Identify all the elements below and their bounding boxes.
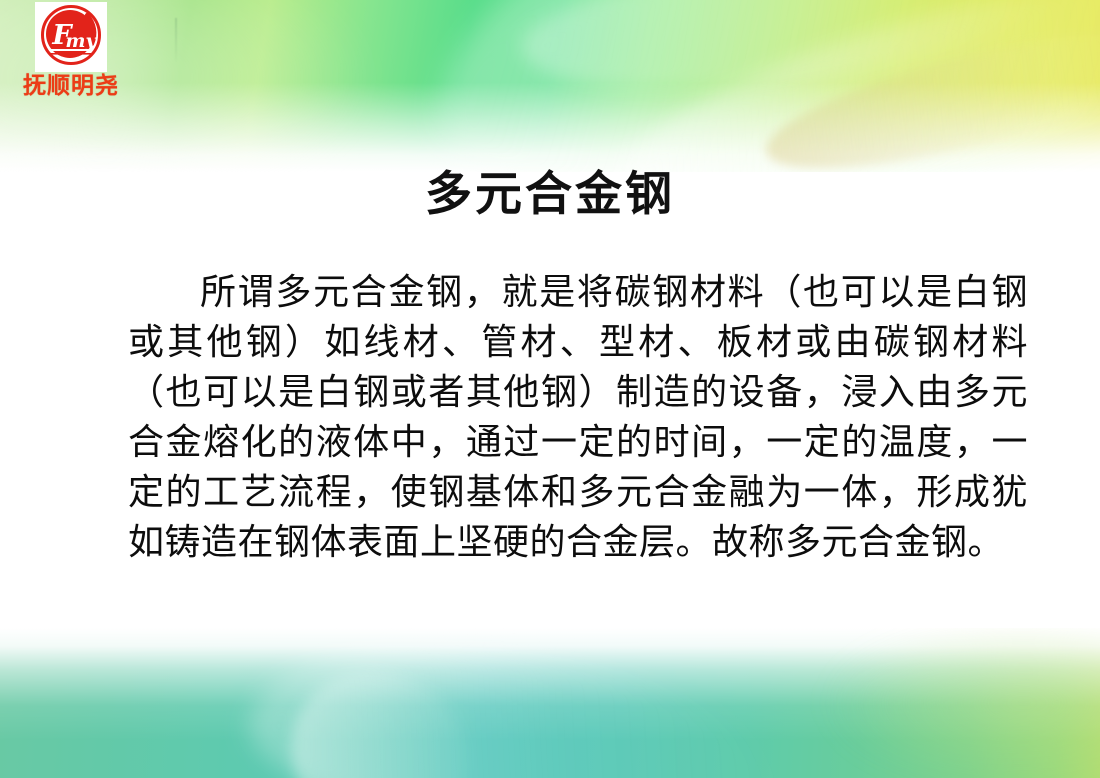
company-logo: F my 抚顺明尧 <box>12 2 130 98</box>
fmy-logo-icon: F my <box>35 2 107 72</box>
slide-content: 多元合金钢 所谓多元合金钢，就是将碳钢材料（也可以是白钢或其他钢）如线材、管材、… <box>0 0 1100 778</box>
svg-text:my: my <box>65 30 98 52</box>
company-name-label: 抚顺明尧 <box>12 74 130 98</box>
slide-title: 多元合金钢 <box>0 166 1100 225</box>
presentation-slide: F my 抚顺明尧 多元合金钢 所谓多元合金钢，就是将碳钢材料（也可以是白钢或其… <box>0 0 1100 778</box>
slide-body-text: 所谓多元合金钢，就是将碳钢材料（也可以是白钢或其他钢）如线材、管材、型材、板材或… <box>128 268 1028 568</box>
body-paragraph: 所谓多元合金钢，就是将碳钢材料（也可以是白钢或其他钢）如线材、管材、型材、板材或… <box>128 268 1028 568</box>
